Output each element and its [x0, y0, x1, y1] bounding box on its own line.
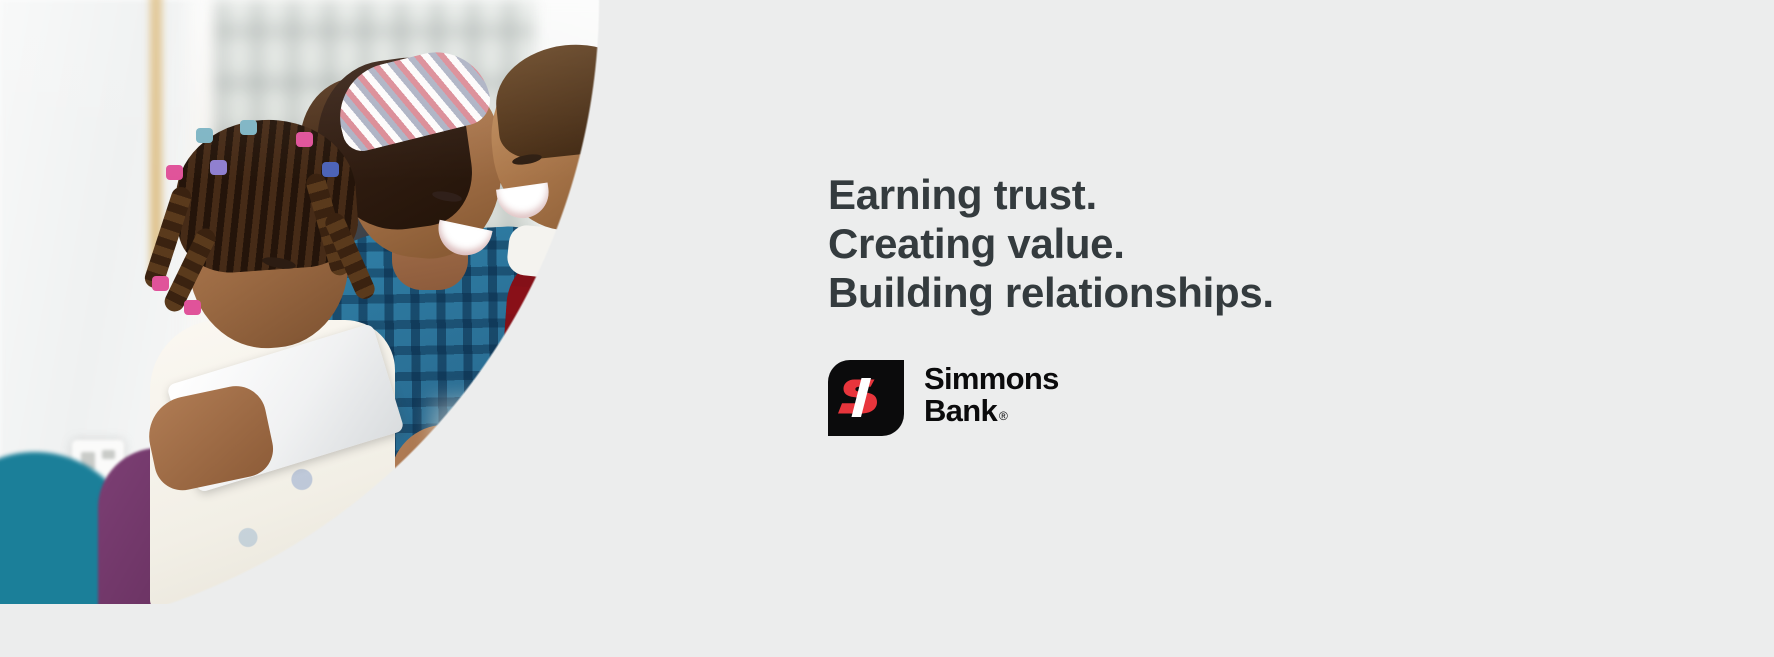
hair-bead	[184, 300, 201, 315]
foreground-blur	[430, 395, 760, 604]
simmons-bank-logo[interactable]: Simmons Bank®	[828, 360, 1568, 436]
headline-line-1: Earning trust.	[828, 170, 1568, 219]
hair-bead	[240, 120, 257, 135]
simmons-bank-wordmark: Simmons Bank®	[924, 363, 1059, 433]
hair-bead	[296, 132, 313, 147]
headline: Earning trust. Creating value. Building …	[828, 170, 1568, 317]
hair-bead	[322, 162, 339, 177]
photo-content	[0, 0, 800, 604]
boy-collar	[506, 224, 597, 283]
hair-bead	[152, 276, 169, 291]
promotional-banner: Earning trust. Creating value. Building …	[0, 0, 1774, 657]
hero-photo	[0, 0, 800, 604]
banner-content: Earning trust. Creating value. Building …	[828, 170, 1568, 436]
wordmark-line-1: Simmons	[924, 363, 1059, 395]
hair-bead	[166, 165, 183, 180]
wordmark-bank-text: Bank	[924, 393, 997, 428]
simmons-s-monogram-icon	[828, 360, 904, 436]
wordmark-line-2: Bank®	[924, 395, 1059, 433]
registered-trademark-symbol: ®	[999, 409, 1007, 423]
headline-line-2: Creating value.	[828, 219, 1568, 268]
hair-bead	[196, 128, 213, 143]
headline-line-3: Building relationships.	[828, 268, 1568, 317]
hair-bead	[210, 160, 227, 175]
